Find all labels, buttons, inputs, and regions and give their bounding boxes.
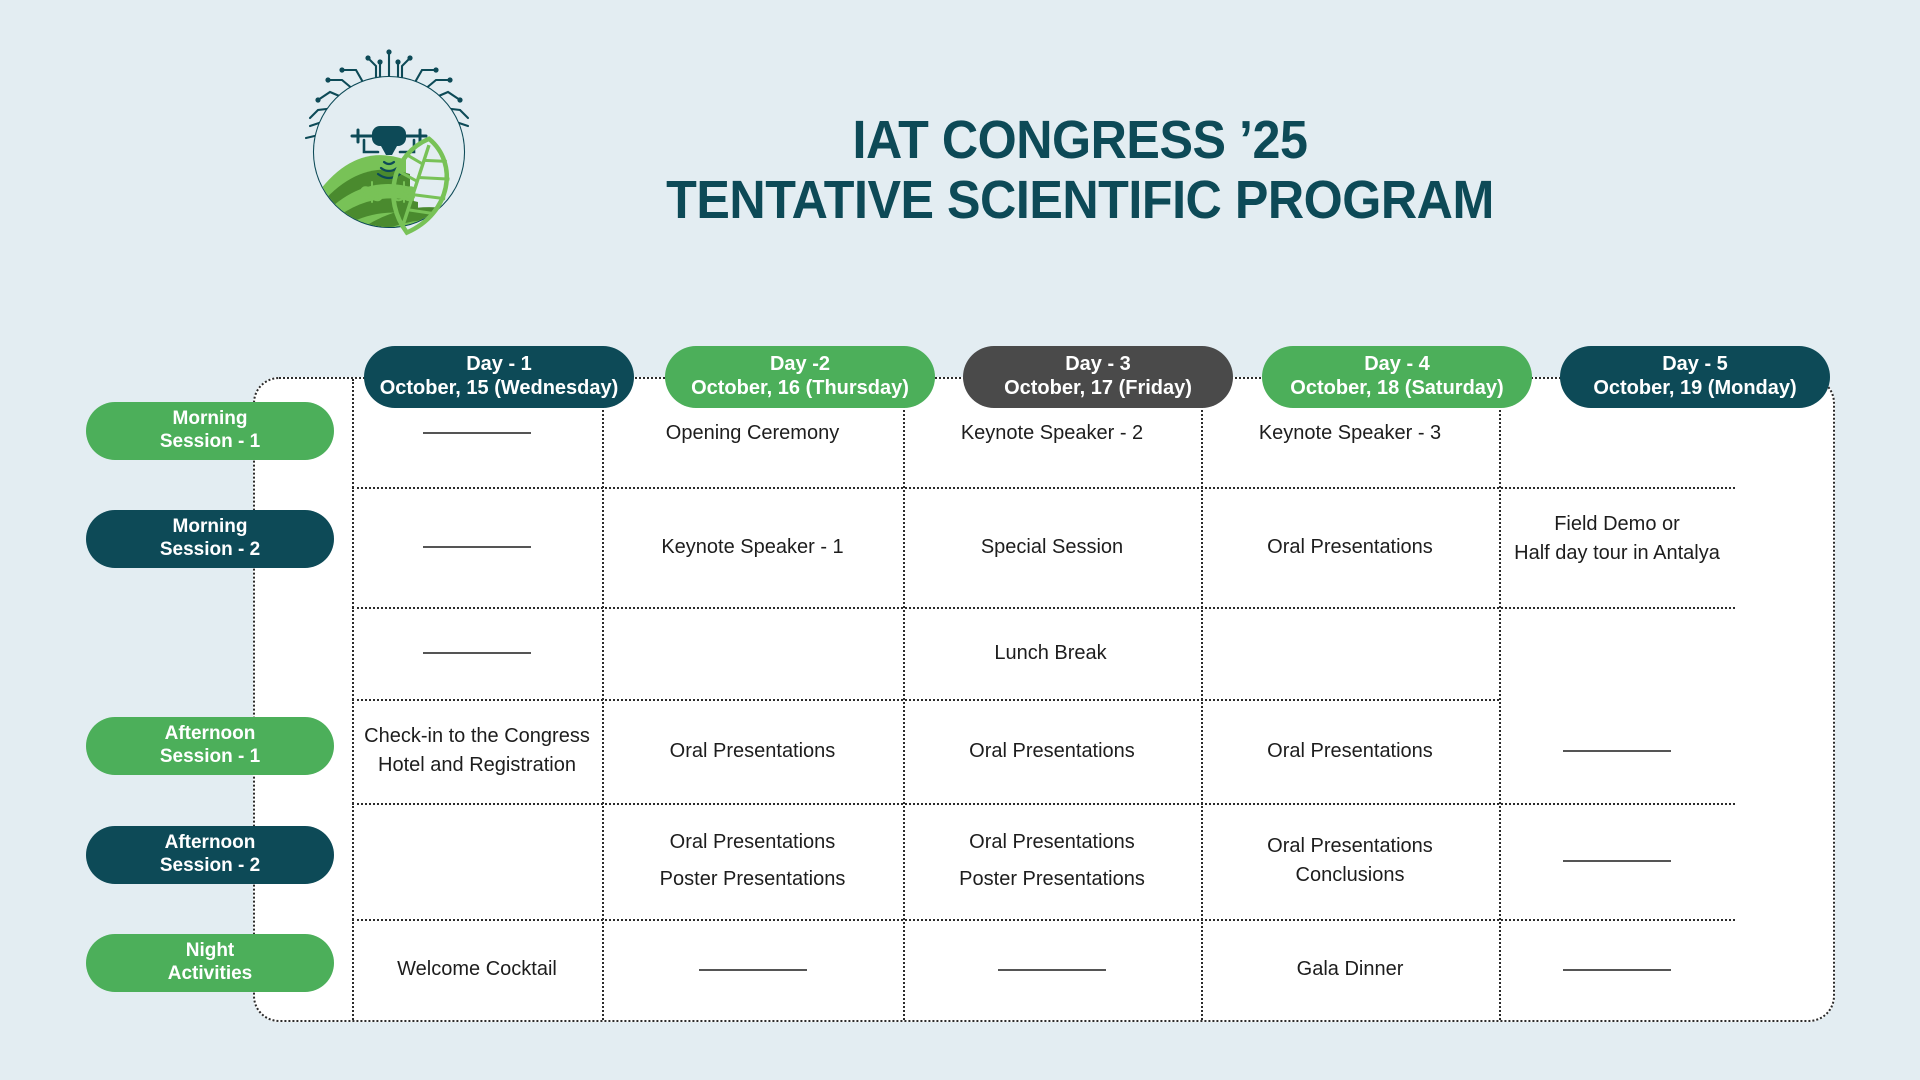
cell-day3-morning2: Special Session	[903, 487, 1201, 607]
row-label-afternoon-2[interactable]: Afternoon Session - 2	[86, 826, 334, 884]
cell-text-line1: Oral Presentations	[969, 828, 1135, 857]
day-date-label: October, 18 (Saturday)	[1290, 377, 1503, 401]
cell-day2-afternoon2: Oral Presentations Poster Presentations	[602, 803, 903, 919]
empty-dash	[998, 969, 1106, 971]
day-label: Day - 1	[466, 353, 532, 377]
day-label: Day -2	[770, 353, 830, 377]
cell-day3-afternoon2: Oral Presentations Poster Presentations	[903, 803, 1201, 919]
schedule-table: Opening Ceremony Keynote Speaker - 2 Key…	[253, 377, 1835, 1022]
empty-dash	[1563, 750, 1671, 752]
cell-text-line2: Poster Presentations	[959, 865, 1145, 894]
cell-day4-morning2: Oral Presentations	[1201, 487, 1499, 607]
cell-text-line2: Hotel and Registration	[378, 751, 576, 780]
day-header-5[interactable]: Day - 5 October, 19 (Monday)	[1560, 346, 1830, 408]
cell-lunch-break-merged: Lunch Break	[602, 607, 1499, 699]
day-label: Day - 5	[1662, 353, 1728, 377]
day-header-2[interactable]: Day -2 October, 16 (Thursday)	[665, 346, 935, 408]
cell-text-line1: Oral Presentations	[670, 828, 836, 857]
empty-dash	[699, 969, 807, 971]
cell-day1-afternoon2	[352, 803, 602, 919]
title-line-2: TENTATIVE SCIENTIFIC PROGRAM	[596, 170, 1563, 230]
title-line-1: IAT CONGRESS ’25	[596, 110, 1563, 170]
cell-text: Oral Presentations	[1267, 533, 1433, 562]
empty-dash	[1563, 969, 1671, 971]
day-label: Day - 3	[1065, 353, 1131, 377]
cell-text: Oral Presentations	[670, 737, 836, 766]
iat-congress-logo	[286, 40, 496, 250]
day-header-4[interactable]: Day - 4 October, 18 (Saturday)	[1262, 346, 1532, 408]
day-date-label: October, 19 (Monday)	[1593, 377, 1796, 401]
cell-text: Gala Dinner	[1297, 955, 1404, 984]
program-schedule: Opening Ceremony Keynote Speaker - 2 Key…	[0, 330, 1920, 1050]
row-label-afternoon-1[interactable]: Afternoon Session - 1	[86, 717, 334, 775]
cell-day3-night	[903, 919, 1201, 1020]
cell-day2-afternoon1: Oral Presentations	[602, 699, 903, 803]
day-header-3[interactable]: Day - 3 October, 17 (Friday)	[963, 346, 1233, 408]
cell-day2-morning2: Keynote Speaker - 1	[602, 487, 903, 607]
cell-text: Keynote Speaker - 2	[961, 419, 1143, 448]
row-label-line1: Morning	[173, 516, 248, 539]
cell-text: Oral Presentations	[1267, 737, 1433, 766]
cell-text: Welcome Cocktail	[397, 955, 557, 984]
cell-day4-night: Gala Dinner	[1201, 919, 1499, 1020]
row-label-line1: Morning	[173, 408, 248, 431]
cell-text-line1: Field Demo or	[1554, 510, 1680, 539]
cell-text-line2: Conclusions	[1296, 861, 1405, 890]
cell-day5-afternoon1	[1499, 699, 1735, 803]
row-label-line1: Afternoon	[165, 832, 256, 855]
row-label-line2: Session - 1	[160, 431, 260, 454]
day-label: Day - 4	[1364, 353, 1430, 377]
empty-dash	[1563, 860, 1671, 862]
page-header: IAT CONGRESS ’25 TENTATIVE SCIENTIFIC PR…	[0, 22, 1920, 272]
row-label-line2: Session - 1	[160, 746, 260, 769]
cell-text: Keynote Speaker - 1	[661, 533, 843, 562]
cell-text: Oral Presentations	[969, 737, 1135, 766]
day-header-1[interactable]: Day - 1 October, 15 (Wednesday)	[364, 346, 634, 408]
cell-day1-lunch	[352, 607, 602, 699]
empty-dash	[423, 652, 531, 654]
cell-day1-morning2	[352, 487, 602, 607]
cell-day3-afternoon1: Oral Presentations	[903, 699, 1201, 803]
empty-dash	[423, 546, 531, 548]
cell-text-line1: Oral Presentations	[1267, 832, 1433, 861]
cell-text: Lunch Break	[994, 639, 1106, 668]
cell-day2-night	[602, 919, 903, 1020]
cell-day1-night: Welcome Cocktail	[352, 919, 602, 1020]
empty-dash	[423, 432, 531, 434]
cell-day5-merged-morning: Field Demo or Half day tour in Antalya	[1499, 379, 1735, 699]
cell-text: Keynote Speaker - 3	[1259, 419, 1441, 448]
cell-day5-afternoon2	[1499, 803, 1735, 919]
cell-day5-night	[1499, 919, 1735, 1020]
day-date-label: October, 16 (Thursday)	[691, 377, 909, 401]
row-label-morning-1[interactable]: Morning Session - 1	[86, 402, 334, 460]
cell-day4-afternoon1: Oral Presentations	[1201, 699, 1499, 803]
row-label-night[interactable]: Night Activities	[86, 934, 334, 992]
cell-text: Special Session	[981, 533, 1123, 562]
cell-text: Opening Ceremony	[666, 419, 839, 448]
logo-artwork	[286, 40, 496, 250]
row-label-line1: Afternoon	[165, 723, 256, 746]
cell-text-line2: Half day tour in Antalya	[1514, 539, 1720, 568]
row-label-line2: Session - 2	[160, 539, 260, 562]
row-label-morning-2[interactable]: Morning Session - 2	[86, 510, 334, 568]
cell-day4-afternoon2: Oral Presentations Conclusions	[1201, 803, 1499, 919]
page-title: IAT CONGRESS ’25 TENTATIVE SCIENTIFIC PR…	[560, 110, 1600, 231]
row-label-line1: Night	[186, 940, 235, 963]
row-label-line2: Activities	[168, 963, 252, 986]
day-date-label: October, 17 (Friday)	[1004, 377, 1192, 401]
day-date-label: October, 15 (Wednesday)	[380, 377, 619, 401]
row-label-line2: Session - 2	[160, 855, 260, 878]
cell-day1-afternoon1: Check-in to the Congress Hotel and Regis…	[352, 699, 602, 803]
cell-text-line2: Poster Presentations	[660, 865, 846, 894]
cell-text-line1: Check-in to the Congress	[364, 722, 590, 751]
